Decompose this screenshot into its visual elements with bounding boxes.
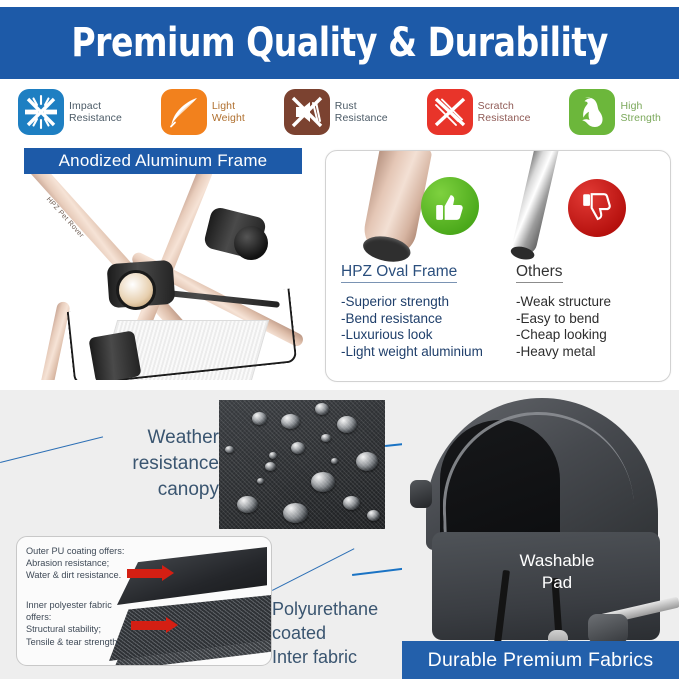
inner-polyester-line4: Tensile & tear strength. <box>26 636 120 648</box>
anodized-frame-tag: Anodized Aluminum Frame <box>24 148 302 174</box>
water-droplet <box>281 414 300 429</box>
inner-polyester-line2: offers: <box>26 611 120 623</box>
feature-label: Scratch Resistance <box>478 100 531 124</box>
polyurethane-line2: coated <box>272 621 402 645</box>
outer-pu-line1: Outer PU coating offers: <box>26 545 124 557</box>
washable-pad-label: Washable Pad <box>497 550 617 594</box>
feature-label: Impact Resistance <box>69 100 122 124</box>
frame-footrest <box>88 330 141 380</box>
list-item: -Bend resistance <box>341 311 516 328</box>
pet-stroller-photo: Washable Pad <box>402 392 679 679</box>
feature-light-weight: Light Weight <box>161 89 245 135</box>
biceps-icon <box>569 89 615 135</box>
water-droplet <box>283 503 308 523</box>
comparison-column-hpz: HPZ Oval Frame -Superior strength -Bend … <box>341 263 516 360</box>
water-droplet <box>291 442 305 454</box>
frame-joint-cover <box>588 614 628 644</box>
water-droplet <box>252 412 267 425</box>
polyurethane-caption: Polyurethane coated Inter fabric <box>272 597 402 669</box>
outer-pu-line3: Water & dirt resistance. <box>26 569 124 581</box>
outer-layer-arrow <box>127 569 163 578</box>
feature-scratch-resistance: Scratch Resistance <box>427 89 531 135</box>
comparison-column-others: Others -Weak structure -Easy to bend -Ch… <box>516 263 666 360</box>
water-droplet <box>225 446 234 453</box>
competitor-round-tube-image <box>511 150 560 257</box>
water-droplet <box>269 452 277 459</box>
feather-icon <box>161 89 207 135</box>
weather-resistance-caption: Weather resistance canopy <box>103 425 219 503</box>
others-drawback-list: -Weak structure -Easy to bend -Cheap loo… <box>516 294 666 360</box>
water-droplet <box>337 416 357 433</box>
feature-label-line2: Weight <box>212 112 245 124</box>
water-droplet <box>311 472 335 492</box>
inner-polyester-text: Inner polyester fabric offers: Structura… <box>26 599 120 648</box>
anodized-frame-tag-label: Anodized Aluminum Frame <box>59 151 268 171</box>
water-droplet <box>237 496 258 513</box>
thumbs-up-icon <box>421 177 479 235</box>
water-droplet <box>367 510 380 521</box>
weather-caption-line2: resistance <box>103 451 219 477</box>
pad-label-line1: Washable <box>497 550 617 572</box>
frame-caster-wheel <box>234 226 268 260</box>
list-item: -Superior strength <box>341 294 516 311</box>
frame-hub-badge <box>116 270 156 310</box>
feature-label-line1: Rust <box>335 100 388 112</box>
water-droplet <box>265 462 276 471</box>
frame-tube-lower-left <box>33 301 71 380</box>
feature-label-line1: Scratch <box>478 100 531 112</box>
weather-caption-line1: Weather <box>103 425 219 451</box>
list-item: -Light weight aluminium <box>341 344 516 361</box>
feature-label-line1: High <box>620 100 661 112</box>
comparison-images <box>326 151 670 263</box>
water-droplet <box>321 434 331 442</box>
outer-pu-text: Outer PU coating offers: Abrasion resist… <box>26 545 124 582</box>
infographic-page: Premium Quality & Durability <box>0 0 679 679</box>
feature-label-line1: Impact <box>69 100 122 112</box>
durable-fabrics-tag: Durable Premium Fabrics <box>402 641 679 679</box>
feature-icon-row: Impact Resistance Light Weight <box>0 83 679 141</box>
outer-pu-line2: Abrasion resistance; <box>26 557 124 569</box>
inner-polyester-line3: Structural stability; <box>26 623 120 635</box>
water-droplet-photo <box>219 400 385 529</box>
water-droplet <box>315 403 329 415</box>
polyurethane-line1: Polyurethane <box>272 597 402 621</box>
list-item: -Weak structure <box>516 294 666 311</box>
list-item: -Luxurious look <box>341 327 516 344</box>
feature-label: Light Weight <box>212 100 245 124</box>
inner-polyester-line1: Inner polyester fabric <box>26 599 120 611</box>
others-column-heading: Others <box>516 263 563 283</box>
thumbs-down-icon <box>568 179 626 237</box>
water-droplet <box>331 458 338 464</box>
feature-label-line2: Resistance <box>69 112 122 124</box>
polyurethane-line3: Inter fabric <box>272 645 402 669</box>
rust-crossed-icon <box>284 89 330 135</box>
pu-coating-card: Outer PU coating offers: Abrasion resist… <box>16 536 272 666</box>
feature-label: High Strength <box>620 100 661 124</box>
feature-rust-resistance: Rust Resistance <box>284 89 388 135</box>
feature-label-line2: Resistance <box>335 112 388 124</box>
comparison-columns: HPZ Oval Frame -Superior strength -Bend … <box>326 263 670 381</box>
weather-caption-line3: canopy <box>103 477 219 503</box>
durable-fabrics-label: Durable Premium Fabrics <box>428 649 654 672</box>
stroller-frame-photo: HPZ Pet Rover <box>12 174 315 380</box>
canopy-clip <box>410 480 432 508</box>
hpz-benefit-list: -Superior strength -Bend resistance -Lux… <box>341 294 516 360</box>
impact-burst-icon <box>18 89 64 135</box>
water-droplet <box>343 496 360 510</box>
header-banner: Premium Quality & Durability <box>0 7 679 79</box>
feature-high-strength: High Strength <box>569 89 661 135</box>
feature-impact-resistance: Impact Resistance <box>18 89 122 135</box>
list-item: -Easy to bend <box>516 311 666 328</box>
water-droplet <box>356 452 378 471</box>
hpz-column-heading: HPZ Oval Frame <box>341 263 457 283</box>
pad-label-line2: Pad <box>497 572 617 594</box>
list-item: -Cheap looking <box>516 327 666 344</box>
anodized-frame-panel: Anodized Aluminum Frame HPZ Pet Rover <box>12 148 315 380</box>
frame-comparison-card: HPZ Oval Frame -Superior strength -Bend … <box>325 150 671 382</box>
feature-label: Rust Resistance <box>335 100 388 124</box>
page-title: Premium Quality & Durability <box>71 20 608 66</box>
feature-label-line2: Strength <box>620 112 661 124</box>
water-droplet <box>257 478 264 484</box>
feature-label-line2: Resistance <box>478 112 531 124</box>
inner-layer-arrow <box>131 621 167 630</box>
feature-label-line1: Light <box>212 100 245 112</box>
list-item: -Heavy metal <box>516 344 666 361</box>
scratch-crossed-icon <box>427 89 473 135</box>
